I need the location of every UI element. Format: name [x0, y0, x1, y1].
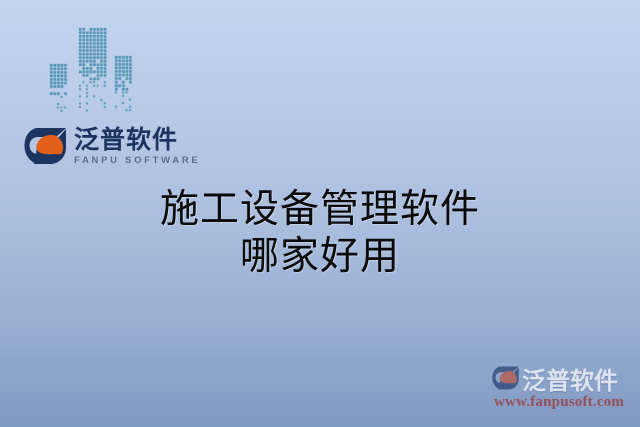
- fanpu-logo-mark-icon: [492, 365, 520, 391]
- brand-name-en: FANPU SOFTWARE: [74, 156, 200, 166]
- watermark-logo-row: 泛普软件: [492, 363, 632, 393]
- brand-name-cn: 泛普软件: [74, 127, 200, 152]
- pixel-skyline-graphic: [48, 26, 134, 118]
- poster-canvas: 泛普软件 FANPU SOFTWARE 施工设备管理软件 哪家好用 泛普软件 w…: [0, 0, 640, 427]
- fanpu-logo-mark-icon: [24, 126, 68, 166]
- watermark-url: www.fanpusoft.com: [492, 394, 632, 411]
- watermark: 泛普软件 www.fanpusoft.com: [492, 363, 632, 415]
- brand-wordmark: 泛普软件 FANPU SOFTWARE: [74, 127, 200, 166]
- watermark-brand-name: 泛普软件: [522, 361, 618, 396]
- skyline-canvas: [48, 26, 134, 118]
- page-title-line-1: 施工设备管理软件: [0, 186, 640, 233]
- brand-logo: 泛普软件 FANPU SOFTWARE: [24, 123, 189, 169]
- page-title: 施工设备管理软件 哪家好用: [0, 186, 640, 280]
- page-title-line-2: 哪家好用: [0, 233, 640, 280]
